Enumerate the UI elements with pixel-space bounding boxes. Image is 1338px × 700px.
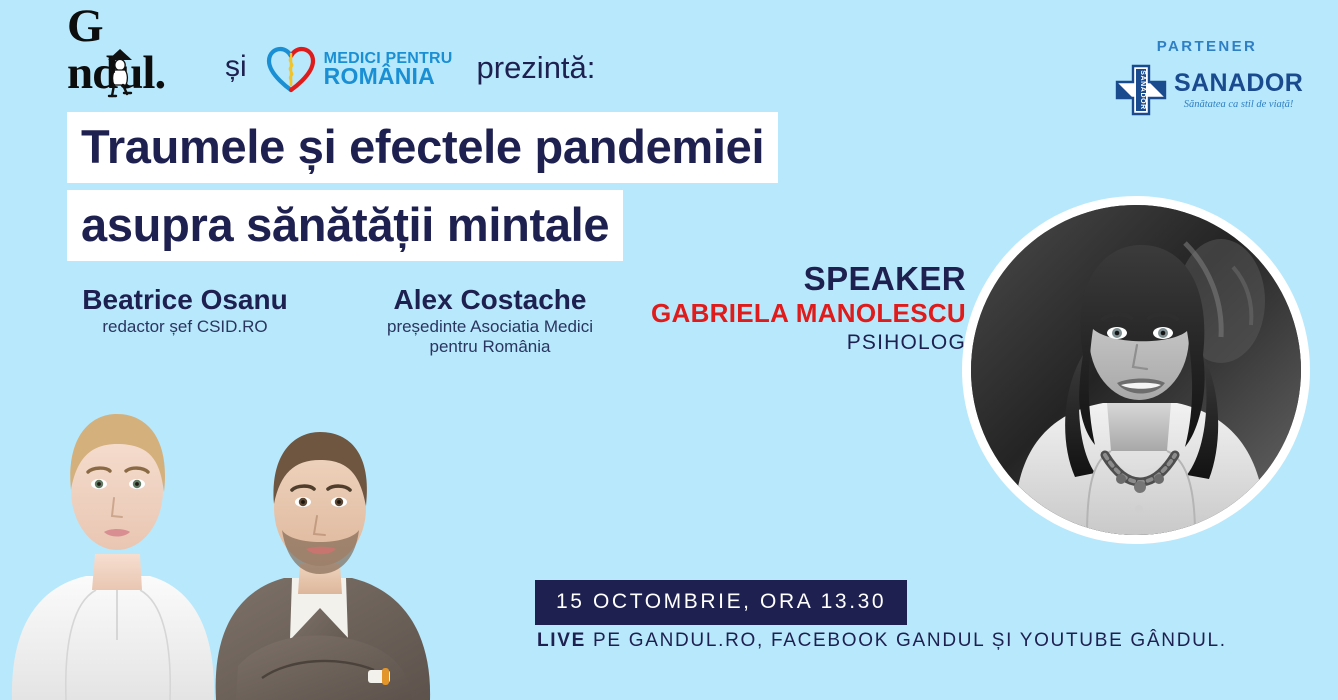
presenter-0: Beatrice Osanu redactor șef CSID.RO: [40, 285, 330, 337]
heart-caduceus-icon: [265, 45, 317, 93]
header-row: G ndul. și MEDICI PENTRU: [67, 38, 595, 100]
speaker-block: SPEAKER GABRIELA MANOLESCU PSIHOLOG: [651, 262, 966, 356]
speaker-portrait-inner: [971, 205, 1301, 535]
medici-pentru-romania-logo[interactable]: MEDICI PENTRU ROMÂNIA: [265, 43, 453, 95]
sanador-logo[interactable]: SANADOR SANADOR Sănătatea ca stil de via…: [1114, 64, 1300, 116]
mpr-line-2: ROMÂNIA: [324, 66, 453, 88]
date-time-badge: 15 OCTOMBRIE, ORA 13.30: [535, 580, 907, 625]
presents-label: prezintă:: [477, 52, 596, 86]
title-line-2: asupra sănătății mintale: [67, 190, 623, 261]
conjunction-si: și: [225, 52, 247, 86]
sanador-wordmark: SANADOR Sănătatea ca stil de viață!: [1174, 71, 1303, 110]
promo-banner: G ndul. și MEDICI PENTRU: [0, 0, 1338, 700]
speaker-name: GABRIELA MANOLESCU: [651, 297, 966, 330]
presenter-0-name: Beatrice Osanu: [40, 285, 330, 314]
partner-label: PARTENER: [1114, 38, 1300, 55]
gandul-wordmark: G ndul.: [67, 3, 207, 97]
gandul-logo[interactable]: G ndul.: [67, 41, 207, 97]
sanador-vertical-text: SANADOR: [1139, 70, 1146, 110]
speaker-kicker: SPEAKER: [651, 262, 966, 297]
presenter-photo-female: [12, 414, 214, 700]
presenter-1-name: Alex Costache: [340, 285, 640, 314]
live-label: LIVE: [537, 630, 586, 651]
presenter-1: Alex Costache președinte Asociatia Medic…: [340, 285, 640, 356]
mpr-wordmark: MEDICI PENTRU ROMÂNIA: [324, 51, 453, 88]
live-channels-line: LIVE PE GANDUL.RO, FACEBOOK GANDUL ȘI YO…: [537, 630, 1227, 652]
speaker-photo-bw: [971, 205, 1301, 535]
presenters-photo: [0, 340, 470, 700]
presenter-0-role: redactor șef CSID.RO: [40, 317, 330, 337]
live-rest: PE GANDUL.RO, FACEBOOK GANDUL ȘI YOUTUBE…: [586, 630, 1227, 651]
sanador-name: SANADOR: [1174, 71, 1303, 96]
partner-block: PARTENER SANADOR SANADOR Sănătatea ca st…: [1114, 38, 1300, 116]
presenter-photo-male: [216, 432, 430, 700]
title-line-1: Traumele și efectele pandemiei: [67, 112, 778, 183]
sanador-cross-icon: SANADOR: [1114, 64, 1168, 116]
page-title: Traumele și efectele pandemiei asupra să…: [67, 112, 778, 261]
presenter-1-role: președinte Asociatia Medicipentru Români…: [340, 317, 640, 356]
speaker-role: PSIHOLOG: [651, 329, 966, 356]
speaker-portrait: [962, 196, 1310, 544]
sanador-tagline: Sănătatea ca stil de viață!: [1184, 99, 1294, 110]
